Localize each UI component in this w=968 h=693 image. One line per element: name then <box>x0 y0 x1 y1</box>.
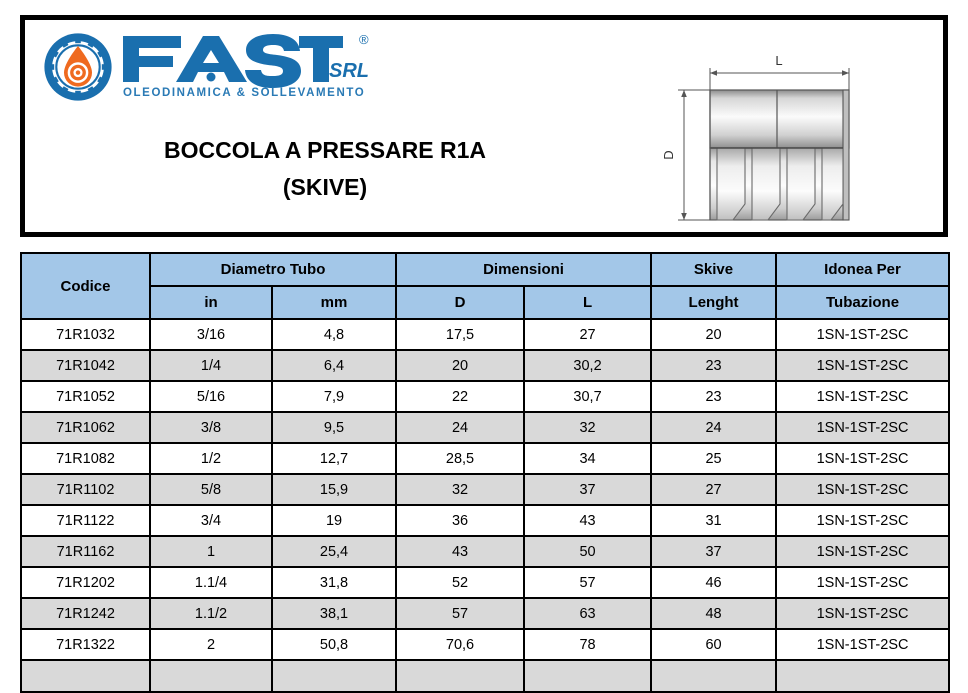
col-header-lenght: Lenght <box>651 286 776 319</box>
cell-lenght: 46 <box>651 567 776 598</box>
cell-l: 63 <box>524 598 651 629</box>
table-row: 71R10623/89,52432241SN-1ST-2SC <box>21 412 949 443</box>
cell-codice: 71R1082 <box>21 443 150 474</box>
cell-tubazione: 1SN-1ST-2SC <box>776 474 949 505</box>
cell-tubazione: 1SN-1ST-2SC <box>776 598 949 629</box>
cell-d: 43 <box>396 536 524 567</box>
page-title: BOCCOLA A PRESSARE R1A (SKIVE) <box>75 132 575 206</box>
cell-l: 43 <box>524 505 651 536</box>
fast-wordmark <box>121 30 343 88</box>
cell-codice: 71R1162 <box>21 536 150 567</box>
cell-tubazione: 1SN-1ST-2SC <box>776 505 949 536</box>
specification-table: Codice Diametro Tubo Dimensioni Skive Id… <box>20 252 950 693</box>
table-header: Codice Diametro Tubo Dimensioni Skive Id… <box>21 253 949 319</box>
cell-mm: 25,4 <box>272 536 396 567</box>
cell-codice: 71R1052 <box>21 381 150 412</box>
cell-l: 57 <box>524 567 651 598</box>
cell-d: 52 <box>396 567 524 598</box>
table-row: 71R12021.1/431,85257461SN-1ST-2SC <box>21 567 949 598</box>
title-line-1: BOCCOLA A PRESSARE R1A <box>75 132 575 169</box>
cell-tubazione: 1SN-1ST-2SC <box>776 381 949 412</box>
table-row: 71R1162125,44350371SN-1ST-2SC <box>21 536 949 567</box>
cell-tubazione: 1SN-1ST-2SC <box>776 629 949 660</box>
cell-codice: 71R1202 <box>21 567 150 598</box>
col-header-codice: Codice <box>21 253 150 319</box>
table-row: 71R1322250,870,678601SN-1ST-2SC <box>21 629 949 660</box>
col-header-mm: mm <box>272 286 396 319</box>
cell-lenght: 60 <box>651 629 776 660</box>
col-header-skive: Skive <box>651 253 776 286</box>
col-header-diametro-tubo: Diametro Tubo <box>150 253 396 286</box>
cell-in: 3/4 <box>150 505 272 536</box>
table-row: 71R10525/167,92230,7231SN-1ST-2SC <box>21 381 949 412</box>
cell-codice: 71R1032 <box>21 319 150 350</box>
table-row: 71R10821/212,728,534251SN-1ST-2SC <box>21 443 949 474</box>
cell-in: 2 <box>150 629 272 660</box>
cell-mm <box>272 660 396 692</box>
cell-d: 22 <box>396 381 524 412</box>
cell-lenght: 24 <box>651 412 776 443</box>
cell-codice: 71R1322 <box>21 629 150 660</box>
cell-lenght: 23 <box>651 381 776 412</box>
dimension-label-d: D <box>661 150 676 159</box>
logo-tagline: OLEODINAMICA & SOLLEVAMENTO <box>123 87 365 99</box>
col-header-dimensioni: Dimensioni <box>396 253 651 286</box>
cell-lenght: 25 <box>651 443 776 474</box>
cell-l: 34 <box>524 443 651 474</box>
header-panel: SRL ® OLEODINAMICA & SOLLEVAMENTO BOCCOL… <box>20 15 948 237</box>
cell-codice <box>21 660 150 692</box>
cell-codice: 71R1242 <box>21 598 150 629</box>
product-datasheet: SRL ® OLEODINAMICA & SOLLEVAMENTO BOCCOL… <box>0 0 968 683</box>
table-row-empty <box>21 660 949 692</box>
cell-l: 27 <box>524 319 651 350</box>
cell-codice: 71R1102 <box>21 474 150 505</box>
cell-in <box>150 660 272 692</box>
cell-lenght: 27 <box>651 474 776 505</box>
cell-d: 70,6 <box>396 629 524 660</box>
cell-l: 78 <box>524 629 651 660</box>
cell-tubazione: 1SN-1ST-2SC <box>776 350 949 381</box>
cell-lenght: 37 <box>651 536 776 567</box>
cell-tubazione: 1SN-1ST-2SC <box>776 319 949 350</box>
cell-tubazione: 1SN-1ST-2SC <box>776 412 949 443</box>
fast-logo: SRL ® OLEODINAMICA & SOLLEVAMENTO <box>43 30 373 115</box>
cell-mm: 38,1 <box>272 598 396 629</box>
table-row: 71R11025/815,93237271SN-1ST-2SC <box>21 474 949 505</box>
table-row: 71R10421/46,42030,2231SN-1ST-2SC <box>21 350 949 381</box>
header-row-secondary: in mm D L Lenght Tubazione <box>21 286 949 319</box>
cell-mm: 31,8 <box>272 567 396 598</box>
cell-mm: 19 <box>272 505 396 536</box>
cell-lenght: 48 <box>651 598 776 629</box>
cell-lenght: 20 <box>651 319 776 350</box>
cell-codice: 71R1062 <box>21 412 150 443</box>
cell-mm: 12,7 <box>272 443 396 474</box>
cell-in: 1/4 <box>150 350 272 381</box>
cell-d: 36 <box>396 505 524 536</box>
cell-in: 1/2 <box>150 443 272 474</box>
cell-d: 32 <box>396 474 524 505</box>
cell-in: 3/16 <box>150 319 272 350</box>
cell-in: 5/8 <box>150 474 272 505</box>
col-header-in: in <box>150 286 272 319</box>
ferrule-technical-drawing: L D <box>653 32 933 228</box>
col-header-idonea-per: Idonea Per <box>776 253 949 286</box>
cell-lenght: 23 <box>651 350 776 381</box>
cell-d: 57 <box>396 598 524 629</box>
title-line-2: (SKIVE) <box>75 169 575 206</box>
cell-d: 28,5 <box>396 443 524 474</box>
cell-lenght: 31 <box>651 505 776 536</box>
header-row-primary: Codice Diametro Tubo Dimensioni Skive Id… <box>21 253 949 286</box>
cell-d <box>396 660 524 692</box>
cell-mm: 50,8 <box>272 629 396 660</box>
cell-lenght <box>651 660 776 692</box>
cell-tubazione: 1SN-1ST-2SC <box>776 443 949 474</box>
cell-mm: 6,4 <box>272 350 396 381</box>
cell-in: 1.1/2 <box>150 598 272 629</box>
cell-l: 30,2 <box>524 350 651 381</box>
cell-l: 30,7 <box>524 381 651 412</box>
cell-l: 32 <box>524 412 651 443</box>
cell-l <box>524 660 651 692</box>
cell-mm: 15,9 <box>272 474 396 505</box>
cell-codice: 71R1042 <box>21 350 150 381</box>
col-header-tubazione: Tubazione <box>776 286 949 319</box>
col-header-l: L <box>524 286 651 319</box>
table-row: 71R12421.1/238,15763481SN-1ST-2SC <box>21 598 949 629</box>
cell-d: 24 <box>396 412 524 443</box>
cell-in: 1 <box>150 536 272 567</box>
cell-tubazione: 1SN-1ST-2SC <box>776 536 949 567</box>
logo-srl-text: SRL <box>329 60 369 83</box>
gear-droplet-icon <box>43 32 113 102</box>
registered-mark-icon: ® <box>359 32 369 47</box>
cell-d: 20 <box>396 350 524 381</box>
col-header-d: D <box>396 286 524 319</box>
table-row: 71R10323/164,817,527201SN-1ST-2SC <box>21 319 949 350</box>
cell-tubazione: 1SN-1ST-2SC <box>776 567 949 598</box>
cell-codice: 71R1122 <box>21 505 150 536</box>
cell-d: 17,5 <box>396 319 524 350</box>
cell-in: 5/16 <box>150 381 272 412</box>
cell-in: 1.1/4 <box>150 567 272 598</box>
cell-mm: 4,8 <box>272 319 396 350</box>
cell-l: 50 <box>524 536 651 567</box>
cell-tubazione <box>776 660 949 692</box>
dimension-label-l: L <box>775 53 782 68</box>
table-row: 71R11223/4193643311SN-1ST-2SC <box>21 505 949 536</box>
cell-mm: 7,9 <box>272 381 396 412</box>
cell-in: 3/8 <box>150 412 272 443</box>
cell-mm: 9,5 <box>272 412 396 443</box>
table-body: 71R10323/164,817,527201SN-1ST-2SC71R1042… <box>21 319 949 692</box>
cell-l: 37 <box>524 474 651 505</box>
